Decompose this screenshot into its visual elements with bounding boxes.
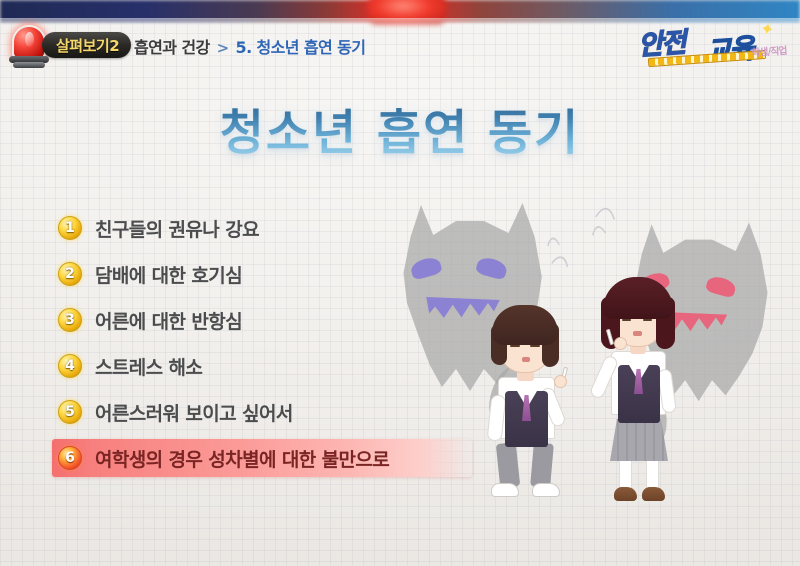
list-item-label: 담배에 대한 호기심 — [95, 261, 242, 288]
leg-left — [496, 442, 520, 488]
hair-top — [492, 305, 558, 345]
shoe-left — [491, 483, 519, 497]
hair-top — [603, 277, 673, 319]
eye-left — [510, 345, 520, 347]
chevron-right-icon: > — [217, 39, 229, 57]
siren-highlight — [25, 32, 34, 47]
smoking-girl-student — [588, 273, 708, 505]
list-number-badge: 1 — [58, 216, 82, 240]
breadcrumb-main: 흡연과 건강 — [134, 34, 210, 58]
list-item-label: 스트레스 해소 — [95, 353, 202, 380]
list-item-label: 친구들의 권유나 강요 — [95, 215, 259, 242]
list-number-badge: 3 — [58, 308, 82, 332]
logo-sub-text: 학생/직업 — [750, 42, 786, 59]
leg-right — [530, 442, 554, 488]
siren-base-lower — [13, 62, 45, 68]
mouth — [633, 331, 642, 336]
list-number-badge: 2 — [58, 262, 82, 286]
eye-right — [643, 319, 652, 321]
illustration — [380, 185, 800, 515]
smoking-boy-student — [472, 303, 592, 503]
slide-root: 살펴보기2 흡연과 건강 > 5. 청소년 흡연 동기 안전 교육 ✦ 학생/직… — [0, 0, 800, 566]
list-number-badge: 5 — [58, 400, 82, 424]
list-item-label: 어른스러워 보이고 싶어서 — [95, 399, 293, 426]
shoe-right — [532, 483, 560, 497]
sparkle-icon: ✦ — [758, 19, 776, 41]
siren-dome — [12, 25, 46, 59]
page-title: 청소년 흡연 동기 — [0, 93, 800, 163]
hand-right — [554, 375, 567, 388]
hand-right — [614, 337, 627, 350]
list-item-label: 여학생의 경우 성차별에 대한 불만으로 — [95, 445, 389, 472]
brand-logo: 안전 교육 ✦ 학생/직업 — [632, 18, 792, 76]
breadcrumb-current: 5. 청소년 흡연 동기 — [236, 34, 366, 58]
breadcrumb: 흡연과 건강 > 5. 청소년 흡연 동기 — [134, 34, 365, 58]
shoe-left — [614, 487, 637, 501]
eye-left — [622, 319, 631, 321]
list-number-badge: 6 — [58, 446, 82, 470]
mouth — [522, 357, 530, 362]
list-number-badge: 4 — [58, 354, 82, 378]
eye-right — [530, 345, 540, 347]
skirt — [610, 419, 668, 461]
shoe-right — [642, 487, 665, 501]
slide-header: 살펴보기2 흡연과 건강 > 5. 청소년 흡연 동기 안전 교육 ✦ 학생/직… — [0, 22, 800, 74]
section-badge-label: 살펴보기2 — [56, 35, 119, 56]
list-item-label: 어른에 대한 반항심 — [95, 307, 242, 334]
section-badge: 살펴보기2 — [42, 32, 131, 58]
